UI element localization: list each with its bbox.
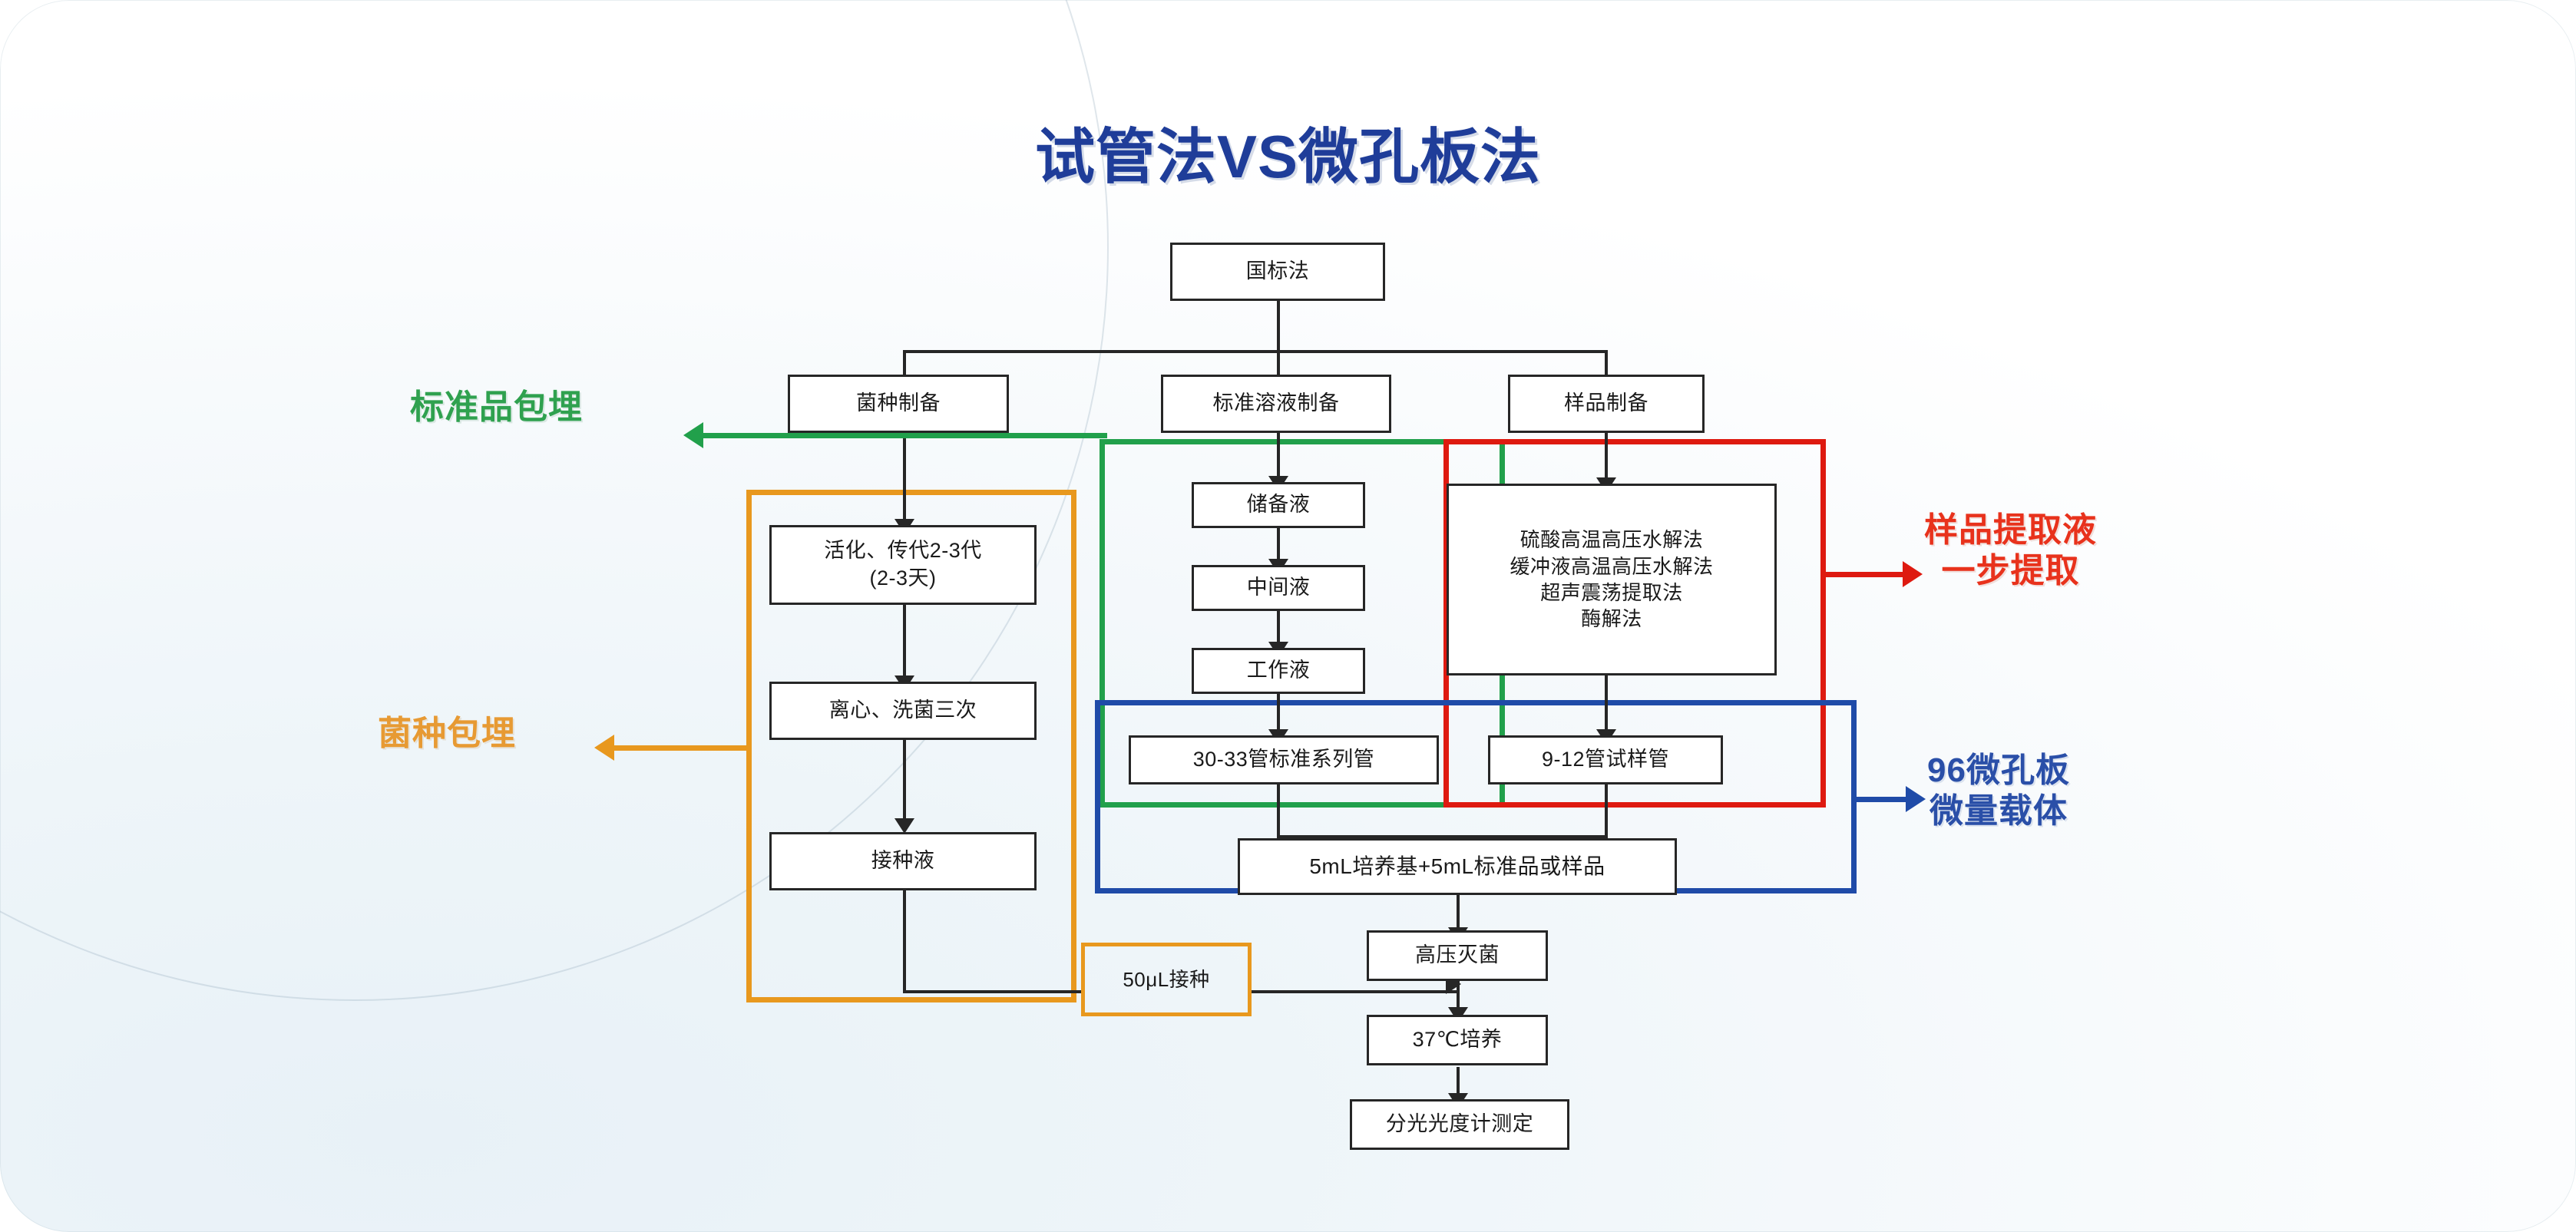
node-centrifuge-wash[interactable]: 离心、洗菌三次 bbox=[769, 682, 1037, 740]
callout-strain-embed: 菌种包埋 bbox=[378, 714, 516, 755]
slide-canvas: 试管法VS微孔板法 国标法 bbox=[0, 0, 2576, 1232]
node-incubate-37c[interactable]: 37℃培养 bbox=[1367, 1015, 1548, 1065]
connector-root-down bbox=[1277, 301, 1280, 352]
connector-extraction-to-sample-tubes bbox=[1605, 675, 1608, 735]
callout-arrowhead-microplate bbox=[1906, 786, 1926, 812]
node-activate-passage[interactable]: 活化、传代2-3代 (2-3天) bbox=[769, 525, 1037, 605]
group-50ul-orange bbox=[1081, 943, 1252, 1016]
connector-activate-to-centrifuge bbox=[903, 605, 906, 682]
node-standard-series-tubes[interactable]: 30-33管标准系列管 bbox=[1129, 735, 1439, 784]
callout-shaft-microplate bbox=[1857, 797, 1910, 802]
connector-inoculum-down bbox=[903, 890, 906, 993]
node-stock-solution[interactable]: 储备液 bbox=[1192, 482, 1365, 528]
page-title: 试管法VS微孔板法 bbox=[0, 109, 2576, 195]
node-sample-tubes[interactable]: 9-12管试样管 bbox=[1488, 735, 1723, 784]
node-standard-solution-preparation[interactable]: 标准溶液制备 bbox=[1161, 375, 1391, 433]
node-inoculum[interactable]: 接种液 bbox=[769, 832, 1037, 890]
connector-standard-tubes-down bbox=[1277, 784, 1280, 838]
callout-microplate: 96微孔板 微量载体 bbox=[1927, 751, 2070, 832]
callout-arrowhead-sample-extract bbox=[1903, 561, 1923, 587]
callout-arrowhead-standard-embed bbox=[683, 422, 703, 448]
connector-inoculum-to-50ul bbox=[903, 990, 1081, 993]
node-autoclave[interactable]: 高压灭菌 bbox=[1367, 930, 1548, 981]
callout-sample-extract: 样品提取液 一步提取 bbox=[1924, 510, 2097, 592]
connector-standard-to-stock bbox=[1277, 433, 1280, 482]
connector-sample-tubes-down bbox=[1605, 784, 1608, 838]
callout-shaft-sample-extract bbox=[1826, 572, 1907, 577]
node-sample-preparation[interactable]: 样品制备 bbox=[1508, 375, 1705, 433]
node-national-standard[interactable]: 国标法 bbox=[1170, 243, 1385, 301]
callout-arrowhead-strain-embed bbox=[594, 735, 614, 761]
callout-shaft-standard-embed bbox=[702, 433, 1107, 438]
connector-sample-to-extraction bbox=[1605, 433, 1608, 484]
connector-distribution-bar bbox=[904, 350, 1606, 353]
node-working-solution[interactable]: 工作液 bbox=[1192, 648, 1365, 694]
node-medium-and-sample[interactable]: 5mL培养基+5mL标准品或样品 bbox=[1238, 838, 1677, 895]
connector-centrifuge-to-inoculum bbox=[903, 740, 906, 824]
callout-shaft-strain-embed bbox=[613, 745, 751, 751]
node-extraction-methods[interactable]: 硫酸高温高压水解法 缓冲液高温高压水解法 超声震荡提取法 酶解法 bbox=[1447, 484, 1777, 675]
node-strain-preparation[interactable]: 菌种制备 bbox=[788, 375, 1009, 433]
node-intermediate-solution[interactable]: 中间液 bbox=[1192, 565, 1365, 611]
arrowhead-inoculum bbox=[894, 818, 914, 834]
node-spectrophotometer-measure[interactable]: 分光光度计测定 bbox=[1350, 1099, 1569, 1150]
connector-50ul-to-incubate bbox=[1252, 990, 1459, 993]
connector-strain-to-activate bbox=[903, 433, 906, 525]
callout-standard-embed: 标准品包埋 bbox=[410, 388, 583, 428]
